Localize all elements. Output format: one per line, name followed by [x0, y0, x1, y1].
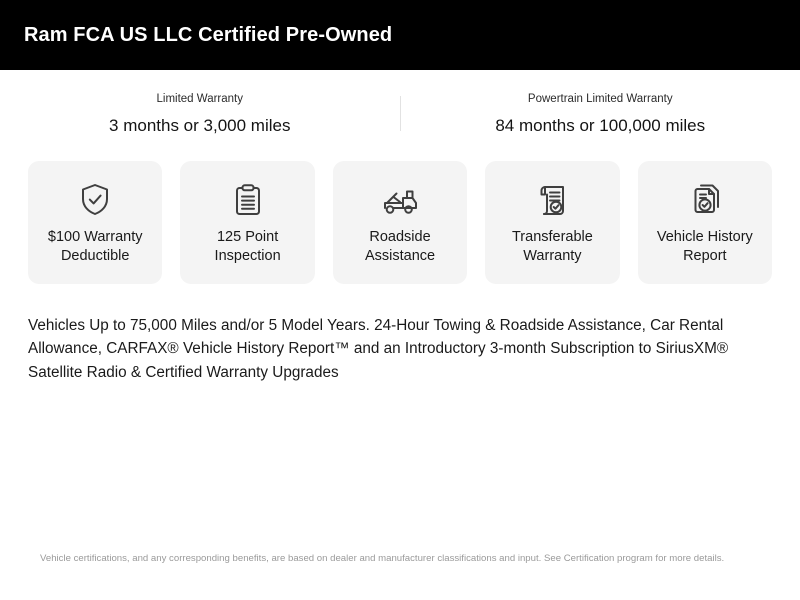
- warranty-summary: Limited Warranty 3 months or 3,000 miles…: [0, 70, 800, 147]
- warranty-item-powertrain: Powertrain Limited Warranty 84 months or…: [401, 92, 800, 137]
- feature-card-label: 125 Point Inspection: [186, 228, 308, 265]
- feature-card-label: Roadside Assistance: [339, 228, 461, 265]
- feature-card-label: Vehicle History Report: [644, 228, 766, 265]
- page-title: Ram FCA US LLC Certified Pre-Owned: [24, 24, 392, 47]
- feature-card-label: $100 Warranty Deductible: [34, 228, 156, 265]
- feature-card-vehicle-history-report[interactable]: Vehicle History Report: [638, 161, 772, 284]
- warranty-value: 84 months or 100,000 miles: [411, 115, 791, 137]
- feature-card-warranty-deductible[interactable]: $100 Warranty Deductible: [28, 161, 162, 284]
- warranty-value: 3 months or 3,000 miles: [10, 115, 390, 137]
- shield-check-icon: [75, 178, 115, 222]
- page-footer: Vehicle certifications, and any correspo…: [0, 552, 800, 566]
- feature-card-roadside-assistance[interactable]: Roadside Assistance: [333, 161, 467, 284]
- certificate-check-icon: [532, 178, 572, 222]
- disclaimer-text: Vehicle certifications, and any correspo…: [40, 552, 760, 566]
- documents-check-icon: [685, 178, 725, 222]
- clipboard-icon: [228, 178, 268, 222]
- feature-card-transferable-warranty[interactable]: Transferable Warranty: [485, 161, 619, 284]
- warranty-label: Powertrain Limited Warranty: [411, 92, 791, 107]
- page-header: Ram FCA US LLC Certified Pre-Owned: [0, 0, 800, 70]
- program-description: Vehicles Up to 75,000 Miles and/or 5 Mod…: [0, 284, 800, 384]
- warranty-label: Limited Warranty: [10, 92, 390, 107]
- tow-truck-icon: [379, 178, 421, 222]
- warranty-item-limited: Limited Warranty 3 months or 3,000 miles: [0, 92, 400, 137]
- feature-card-list: $100 Warranty Deductible 125 Point Inspe…: [0, 147, 800, 284]
- feature-card-point-inspection[interactable]: 125 Point Inspection: [180, 161, 314, 284]
- feature-card-label: Transferable Warranty: [491, 228, 613, 265]
